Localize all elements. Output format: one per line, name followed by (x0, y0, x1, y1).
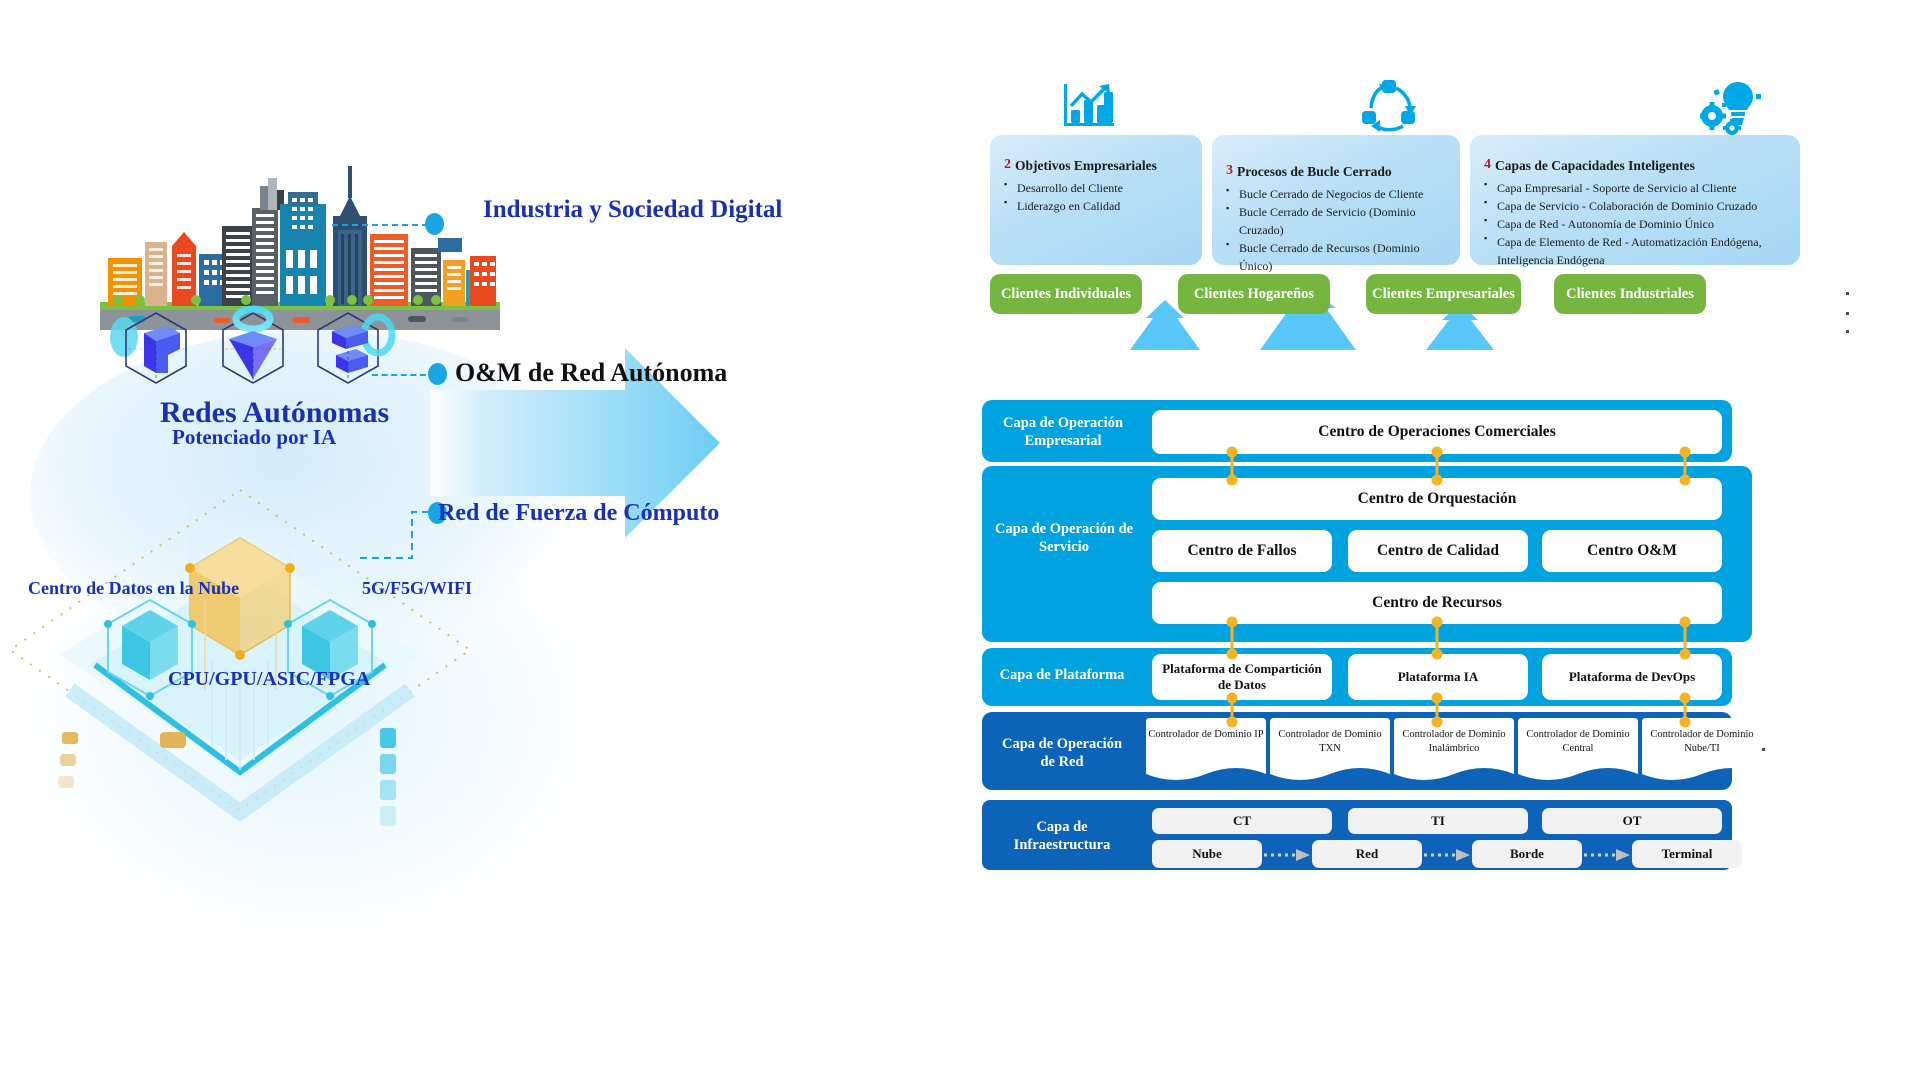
card-title: Objetivos Empresariales (1015, 158, 1157, 173)
label-cpu-gpu-asic-fpga: CPU/GPU/ASIC/FPGA (168, 668, 370, 691)
connector-pin (1225, 446, 1239, 486)
connector-pin (1678, 616, 1692, 660)
controller-label: Controlador de Dominio TXN (1270, 728, 1390, 755)
info-card-intelligent-capability-layers: 4Capas de Capacidades Inteligentes Capa … (1470, 135, 1800, 265)
info-card-closed-loop-processes: 3Procesos de Bucle Cerrado Bucle Cerrado… (1212, 135, 1460, 265)
connector-pin (1225, 616, 1239, 660)
card-number: 3 (1226, 163, 1233, 179)
list-item: Bucle Cerrado de Negocios de Cliente (1226, 185, 1448, 203)
infra-box-ti[interactable]: TI (1348, 808, 1528, 834)
edge-marker-dot (1846, 330, 1849, 333)
infra-box-borde[interactable]: Borde (1472, 840, 1582, 868)
box-controlador-dominio-central[interactable]: Controlador de Dominio Central (1518, 718, 1638, 789)
connector-line-om (372, 374, 426, 376)
client-segment-industrial[interactable]: Clientes Industriales (1554, 274, 1706, 314)
connector-pin (1430, 692, 1444, 728)
client-segment-home[interactable]: Clientes Hogareños (1178, 274, 1330, 314)
connector-pin (1225, 692, 1239, 728)
card-title: Procesos de Bucle Cerrado (1237, 164, 1392, 179)
connector-dot-industry (425, 213, 444, 235)
layer-label-business-operation: Capa de Operación Empresarial (984, 414, 1142, 450)
infra-box-nube[interactable]: Nube (1152, 840, 1262, 868)
list-item: Bucle Cerrado de Recursos (Dominio Único… (1226, 239, 1448, 275)
box-centro-de-calidad[interactable]: Centro de Calidad (1348, 530, 1528, 572)
infra-box-ct[interactable]: CT (1152, 808, 1332, 834)
list-item: Capa de Elemento de Red - Automatización… (1484, 233, 1788, 269)
label-centro-datos-nube: Centro de Datos en la Nube (28, 578, 239, 599)
controller-label: Controlador de Dominio IP (1146, 728, 1266, 742)
label-om-red-autonoma: O&M de Red Autónoma (455, 358, 727, 388)
city-skyline-illustration (100, 150, 500, 330)
controller-label: Controlador de Dominio Central (1518, 728, 1638, 755)
list-item: Capa de Servicio - Colaboración de Domin… (1484, 197, 1788, 215)
infra-flow-arrow-borde-terminal (1584, 848, 1632, 862)
city-skyline-svg (100, 150, 500, 330)
layer-label-platform: Capa de Plataforma (978, 666, 1146, 684)
card-item-list: Bucle Cerrado de Negocios de Cliente Buc… (1226, 185, 1448, 275)
client-label: Clientes Individuales (1001, 286, 1131, 303)
card-number: 4 (1484, 157, 1491, 173)
infra-box-terminal[interactable]: Terminal (1632, 840, 1742, 868)
architecture-panel: 2Objetivos Empresariales Desarrollo del … (960, 0, 1920, 1080)
card-item-list: Desarrollo del Cliente Liderazgo en Cali… (1004, 179, 1188, 215)
box-plataforma-comparticion-datos[interactable]: Plataforma de Compartición de Datos (1152, 654, 1332, 700)
connector-pin (1430, 446, 1444, 486)
left-illustration-panel: Industria y Sociedad Digital (0, 0, 960, 1080)
client-label: Clientes Empresariales (1372, 286, 1515, 303)
card-title: Capas de Capacidades Inteligentes (1495, 158, 1695, 173)
client-segment-enterprise[interactable]: Clientes Empresariales (1366, 274, 1521, 314)
list-item: Bucle Cerrado de Servicio (Dominio Cruza… (1226, 203, 1448, 239)
box-controlador-dominio-nube-ti[interactable]: Controlador de Dominio Nube/TI (1642, 718, 1762, 789)
edge-marker-dot (1846, 292, 1849, 295)
label-industria-sociedad-digital: Industria y Sociedad Digital (483, 196, 782, 224)
client-label: Clientes Hogareños (1194, 286, 1314, 303)
list-item: Capa de Red - Autonomía de Dominio Único (1484, 215, 1788, 233)
box-controlador-dominio-inalambrico[interactable]: Controlador de Dominio Inalámbrico (1394, 718, 1514, 789)
connector-line-industry (332, 224, 428, 226)
closed-loop-cycle-icon (1360, 78, 1418, 139)
info-card-business-objectives: 2Objetivos Empresariales Desarrollo del … (990, 135, 1202, 265)
edge-marker-dot (1846, 312, 1849, 315)
list-item: Capa Empresarial - Soporte de Servicio a… (1484, 179, 1788, 197)
controller-label: Controlador de Dominio Nube/TI (1642, 728, 1762, 755)
edge-marker-dot (1762, 748, 1765, 751)
client-label: Clientes Industriales (1566, 286, 1694, 303)
subheadline-potenciado-por-ia: Potenciado por IA (172, 425, 336, 450)
list-item: Desarrollo del Cliente (1004, 179, 1188, 197)
controller-label: Controlador de Dominio Inalámbrico (1394, 728, 1514, 755)
infra-flow-arrow-nube-red (1264, 848, 1312, 862)
bar-chart-growth-icon (1060, 80, 1118, 137)
box-controlador-dominio-txn[interactable]: Controlador de Dominio TXN (1270, 718, 1390, 789)
layer-label-infrastructure: Capa de Infraestructura (978, 818, 1146, 854)
label-red-fuerza-computo: Red de Fuerza de Cómputo (438, 500, 719, 527)
layer-label-service-operation: Capa de Operación de Servicio (980, 520, 1148, 556)
connector-dot-om (428, 363, 447, 385)
box-controlador-dominio-ip[interactable]: Controlador de Dominio IP (1146, 718, 1266, 789)
diagram-canvas: Industria y Sociedad Digital (0, 0, 1920, 1080)
lightbulb-gears-icon (1700, 78, 1764, 141)
box-centro-om[interactable]: Centro O&M (1542, 530, 1722, 572)
infra-flow-arrow-red-borde (1424, 848, 1472, 862)
card-number: 2 (1004, 157, 1011, 173)
label-5g-f5g-wifi: 5G/F5G/WIFI (362, 578, 472, 599)
list-item: Liderazgo en Calidad (1004, 197, 1188, 215)
connector-pin (1430, 616, 1444, 660)
box-plataforma-devops[interactable]: Plataforma de DevOps (1542, 654, 1722, 700)
card-item-list: Capa Empresarial - Soporte de Servicio a… (1484, 179, 1788, 269)
connector-pin (1678, 446, 1692, 486)
layer-label-network-operation: Capa de Operación de Red (978, 735, 1146, 771)
infra-box-ot[interactable]: OT (1542, 808, 1722, 834)
infra-box-red[interactable]: Red (1312, 840, 1422, 868)
connector-pin (1678, 692, 1692, 728)
box-centro-de-fallos[interactable]: Centro de Fallos (1152, 530, 1332, 572)
client-segment-individual[interactable]: Clientes Individuales (990, 274, 1142, 314)
